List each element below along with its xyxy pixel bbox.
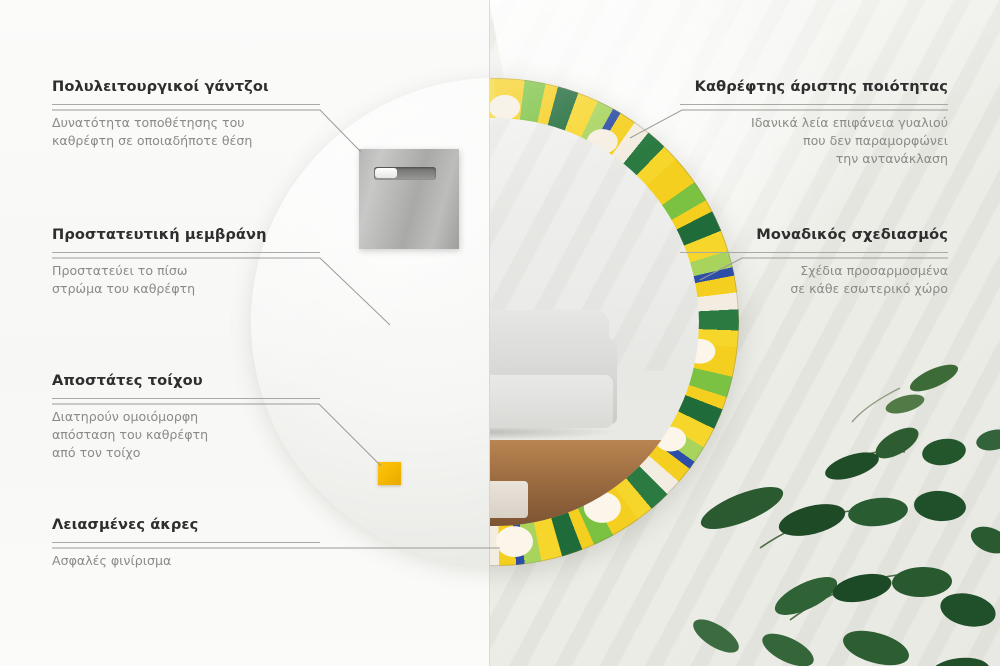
callout-wall-spacers: Αποστάτες τοίχου Διατηρούν ομοιόμορφη απ… [52,372,320,462]
callout-rule [52,252,320,253]
mounting-bracket-plate [359,149,459,249]
callout-desc: Ιδανικά λεία επιφάνεια γυαλιού που δεν π… [680,114,948,169]
bracket-slot-highlight [375,168,397,178]
callout-desc: Διατηρούν ομοιόμορφη απόσταση του καθρέφ… [52,408,320,463]
callout-title: Λειασμένες άκρες [52,516,320,534]
callout-top-quality-mirror: Καθρέφτης άριστης ποιότητας Ιδανικά λεία… [680,78,948,168]
callout-unique-design: Μοναδικός σχεδιασμός Σχέδια προσαρμοσμέν… [680,226,948,298]
callout-desc: Ασφαλές φινίρισμα [52,552,320,570]
callout-multifunctional-hooks: Πολυλειτουργικοί γάντζοι Δυνατότητα τοπο… [52,78,320,150]
callout-desc: Προστατεύει το πίσω στρώμα του καθρέφτη [52,262,320,299]
callout-rule [680,252,948,253]
yellow-wall-spacer [378,462,401,485]
callout-title: Αποστάτες τοίχου [52,372,320,390]
callout-title: Πολυλειτουργικοί γάντζοι [52,78,320,96]
callout-title: Μοναδικός σχεδιασμός [680,226,948,244]
infographic-canvas: Πολυλειτουργικοί γάντζοι Δυνατότητα τοπο… [0,0,1000,666]
callout-desc: Σχέδια προσαρμοσμένα σε κάθε εσωτερικό χ… [680,262,948,299]
callout-protective-membrane: Προστατευτική μεμβράνη Προστατεύει το πί… [52,226,320,298]
callout-rule [52,104,320,105]
center-divider [489,0,490,666]
callout-desc: Δυνατότητα τοποθέτησης του καθρέφτη σε ο… [52,114,320,151]
callout-title: Προστατευτική μεμβράνη [52,226,320,244]
callout-smoothed-edges: Λειασμένες άκρες Ασφαλές φινίρισμα [52,516,320,570]
callout-rule [680,104,948,105]
callout-rule [52,398,320,399]
callout-rule [52,542,320,543]
callout-title: Καθρέφτης άριστης ποιότητας [680,78,948,96]
